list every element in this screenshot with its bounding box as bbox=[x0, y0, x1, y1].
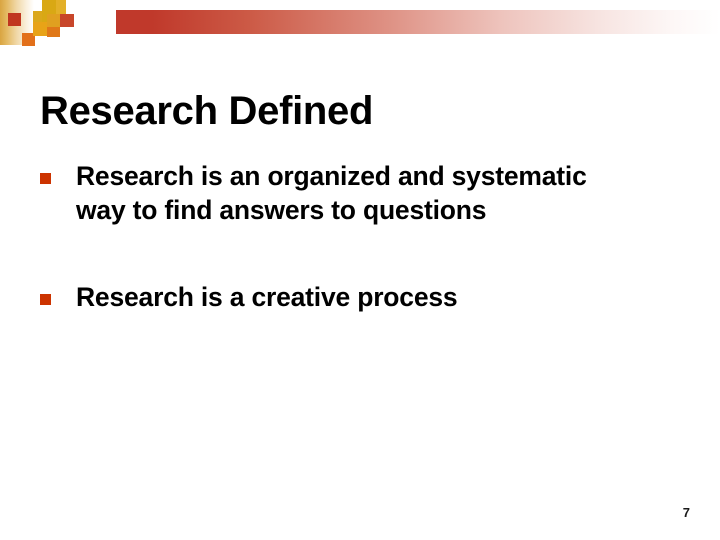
slide-title: Research Defined bbox=[40, 89, 373, 133]
bullet-list: Research is an organized and systematic … bbox=[38, 160, 638, 315]
list-item: Research is a creative process bbox=[38, 281, 638, 315]
decorative-square-gold-middle bbox=[33, 22, 47, 36]
decorative-square-orange bbox=[47, 27, 60, 37]
square-bullet-icon bbox=[40, 294, 51, 305]
red-gradient-bar bbox=[116, 10, 720, 34]
bullet-text: Research is an organized and systematic … bbox=[76, 160, 638, 228]
list-item: Research is an organized and systematic … bbox=[38, 160, 638, 228]
slide-canvas: Research Defined Research is an organize… bbox=[0, 0, 720, 540]
header-decoration bbox=[0, 0, 720, 48]
decorative-square-dark-red bbox=[8, 13, 21, 26]
square-bullet-icon bbox=[40, 173, 51, 184]
page-number: 7 bbox=[683, 505, 690, 520]
decorative-square-amber bbox=[47, 14, 60, 27]
decorative-square-red bbox=[60, 14, 74, 27]
bullet-text: Research is a creative process bbox=[76, 281, 638, 315]
decorative-square-amber-top bbox=[56, 0, 66, 14]
